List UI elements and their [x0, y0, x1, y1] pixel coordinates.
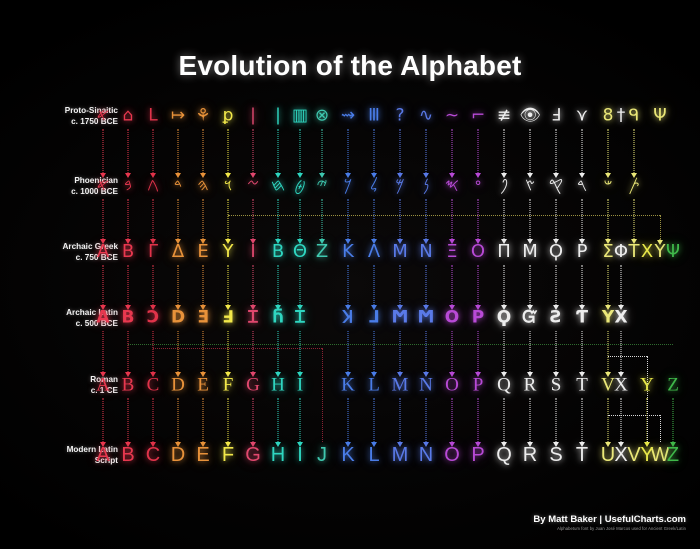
glyph-modern-latin-18: S: [549, 445, 562, 465]
glyph-phoenician-10: 𐤊: [344, 178, 353, 195]
glyph-modern-latin-4: E: [196, 445, 209, 465]
connector-line: [504, 265, 505, 305]
connector-line: [103, 331, 104, 372]
glyph-archaic-greek-17: Μ: [522, 243, 538, 261]
glyph-proto-sinaitic-12: ?: [395, 108, 404, 125]
connector-line: [348, 265, 349, 305]
connector-line: [178, 331, 179, 372]
connector-line: [374, 129, 375, 173]
glyph-phoenician-6: 𐤆: [247, 178, 259, 195]
glyph-archaic-latin-16: Ϙ: [497, 310, 511, 327]
glyph-roman-13: N: [419, 376, 433, 395]
connector-line: [203, 265, 204, 305]
connector-line: [608, 331, 609, 372]
connector-line: [103, 129, 104, 173]
connector-line: [348, 199, 349, 239]
glyph-roman-5: F: [223, 376, 234, 395]
connector-line: [278, 331, 279, 372]
connector-line: [178, 129, 179, 173]
glyph-phoenician-13: 𐤍: [423, 178, 430, 195]
connector-line: [278, 129, 279, 173]
glyph-archaic-greek-22: Υ: [655, 243, 666, 261]
glyph-archaic-greek-6: Ι: [250, 243, 255, 261]
glyph-phoenician-16: 𐤐: [500, 178, 508, 195]
connector-vertical: [322, 348, 323, 442]
connector-line: [582, 331, 583, 372]
connector-line: [556, 129, 557, 173]
glyph-archaic-greek-10: Κ: [342, 243, 354, 261]
glyph-phoenician-15: 𐤏: [475, 178, 481, 195]
glyph-archaic-latin-3: Ⅾ: [171, 310, 185, 327]
glyph-archaic-greek-12: Μ: [392, 243, 408, 261]
connector-line: [530, 129, 531, 173]
glyph-modern-latin-24: Y: [640, 445, 653, 465]
glyph-proto-sinaitic-3: ↦: [171, 108, 185, 125]
connector-line: [608, 265, 609, 305]
glyph-phoenician-19: 𐤓: [577, 178, 587, 195]
glyph-archaic-latin-13: Ϻ: [418, 310, 435, 327]
glyph-roman-23: X: [614, 376, 628, 395]
connector-line: [203, 129, 204, 173]
glyph-archaic-latin-18: Ƨ: [550, 310, 562, 327]
infographic-canvas: Evolution of the Alphabet Proto-Sinaitic…: [0, 0, 700, 549]
glyph-archaic-greek-1: Β: [122, 243, 134, 261]
glyph-archaic-latin-5: Ⅎ: [222, 310, 234, 327]
glyph-archaic-latin-14: Ο: [445, 310, 459, 327]
connector-line: [504, 129, 505, 173]
connector-line: [228, 265, 229, 305]
glyph-archaic-greek-15: Ο: [471, 243, 485, 261]
connector-line: [452, 265, 453, 305]
connector-line: [153, 129, 154, 173]
glyph-archaic-greek-21: Τ: [629, 243, 640, 261]
connector-line: [504, 398, 505, 442]
glyph-proto-sinaitic-17: 👁: [519, 108, 541, 125]
connector-vertical: [647, 356, 648, 442]
connector-line: [300, 129, 301, 173]
connector-line: [300, 398, 301, 442]
connector-line: [278, 265, 279, 305]
glyph-modern-latin-8: I: [297, 445, 303, 465]
glyph-roman-19: T: [576, 376, 588, 395]
glyph-phoenician-11: 𐤋: [370, 178, 378, 195]
connector-line: [400, 199, 401, 239]
connector-line: [153, 398, 154, 442]
connector-line: [322, 199, 323, 239]
glyph-proto-sinaitic-6: |: [250, 108, 256, 125]
glyph-proto-sinaitic-1: ⌂: [123, 108, 134, 125]
glyph-proto-sinaitic-8: ▥: [292, 108, 308, 125]
glyph-modern-latin-0: A: [96, 445, 109, 465]
glyph-proto-sinaitic-15: ⌐: [471, 108, 485, 125]
glyph-archaic-latin-10: Ʞ: [343, 310, 354, 327]
glyph-archaic-greek-23: Φ: [614, 243, 628, 261]
glyph-phoenician-12: 𐤌: [395, 178, 404, 195]
connector-line: [103, 199, 104, 239]
glyph-phoenician-21: 𐤕: [628, 178, 639, 195]
connector-line: [556, 331, 557, 372]
glyph-modern-latin-2: C: [146, 445, 160, 465]
glyph-archaic-latin-15: Ρ: [472, 310, 484, 327]
connector-line: [400, 129, 401, 173]
glyph-modern-latin-6: G: [245, 445, 261, 465]
glyph-roman-8: I: [297, 376, 303, 395]
glyph-roman-18: S: [551, 376, 562, 395]
glyph-proto-sinaitic-13: ∿: [419, 108, 433, 125]
glyph-modern-latin-7: H: [271, 445, 285, 465]
connector-line: [228, 331, 229, 372]
connector-line: [374, 265, 375, 305]
connector-line: [634, 129, 635, 173]
glyph-proto-sinaitic-11: Ⅲ: [368, 108, 380, 125]
connector-line: [374, 199, 375, 239]
connector-line: [608, 129, 609, 173]
glyph-archaic-greek-4: Ε: [197, 243, 208, 261]
connector-horizontal: [128, 344, 673, 345]
credit-font-note: Alphabetum font by Juan José Marcos used…: [533, 526, 686, 531]
connector-line: [608, 199, 609, 239]
connector-horizontal: [608, 356, 647, 357]
glyph-proto-sinaitic-4: ⚘: [195, 108, 210, 125]
glyph-proto-sinaitic-14: ∼: [445, 108, 459, 125]
glyph-proto-sinaitic-19: ⋎: [576, 108, 588, 125]
connector-line: [278, 199, 279, 239]
connector-line: [203, 398, 204, 442]
glyph-archaic-latin-12: Ϻ: [392, 310, 409, 327]
connector-line: [426, 199, 427, 239]
glyph-proto-sinaitic-5: ꝑ: [223, 108, 234, 125]
connector-horizontal: [228, 215, 660, 216]
connector-line: [178, 199, 179, 239]
connector-line: [608, 398, 609, 442]
connector-line: [153, 331, 154, 372]
glyph-archaic-latin-1: Β: [122, 310, 135, 327]
glyph-modern-latin-13: N: [419, 445, 433, 465]
glyph-modern-latin-21: V: [627, 445, 640, 465]
glyph-archaic-greek-19: Ρ: [577, 243, 588, 261]
glyph-phoenician-9: 𐤉: [317, 178, 328, 195]
glyph-archaic-greek-8: Θ: [293, 243, 307, 261]
page-title: Evolution of the Alphabet: [0, 50, 700, 82]
connector-line: [300, 199, 301, 239]
glyph-proto-sinaitic-21: ᑫ: [629, 108, 640, 125]
connector-line: [452, 199, 453, 239]
connector-line: [478, 265, 479, 305]
connector-line: [504, 331, 505, 372]
connector-line: [426, 129, 427, 173]
glyph-roman-14: O: [445, 376, 459, 395]
credit-block: By Matt Baker | UsefulCharts.com Alphabe…: [533, 514, 686, 532]
credit-author[interactable]: By Matt Baker | UsefulCharts.com: [533, 514, 686, 525]
connector-line: [400, 265, 401, 305]
connector-line: [621, 398, 622, 442]
glyph-archaic-greek-14: Ξ: [446, 243, 457, 261]
glyph-phoenician-20: 𐤔: [604, 178, 613, 195]
glyph-modern-latin-11: L: [368, 445, 379, 465]
connector-line: [530, 265, 531, 305]
connector-line: [128, 398, 129, 442]
glyph-proto-sinaitic-18: Ⅎ: [551, 108, 561, 125]
connector-line: [348, 129, 349, 173]
connector-line: [452, 398, 453, 442]
connector-vertical: [660, 215, 661, 239]
connector-line: [556, 265, 557, 305]
glyph-roman-2: C: [147, 376, 160, 395]
connector-line: [228, 199, 229, 239]
connector-line: [452, 129, 453, 173]
connector-line: [504, 199, 505, 239]
glyph-archaic-greek-7: Β: [272, 243, 284, 261]
connector-line: [621, 265, 622, 305]
connector-line: [348, 331, 349, 372]
glyph-modern-latin-12: M: [392, 445, 409, 465]
connector-line: [582, 265, 583, 305]
connector-horizontal: [153, 348, 322, 349]
glyph-modern-latin-9: J: [317, 445, 327, 465]
glyph-archaic-greek-24: Χ: [641, 243, 653, 261]
glyph-modern-latin-16: Q: [496, 445, 512, 465]
glyph-proto-sinaitic-7: |: [275, 108, 281, 125]
glyph-modern-latin-5: F: [222, 445, 234, 465]
glyph-archaic-latin-23: Χ: [614, 310, 627, 327]
glyph-roman-4: E: [197, 376, 209, 395]
glyph-archaic-latin-19: Ƭ: [576, 310, 588, 327]
connector-line: [426, 265, 427, 305]
connector-line: [582, 129, 583, 173]
glyph-phoenician-4: 𐤄: [197, 178, 208, 195]
glyph-archaic-latin-7: Ⴌ: [273, 310, 284, 327]
glyph-archaic-latin-6: Ɪ: [248, 310, 257, 327]
connector-line: [556, 199, 557, 239]
glyph-phoenician-1: 𐤁: [124, 178, 132, 195]
glyph-phoenician-0: 𐤀: [97, 178, 110, 195]
glyph-archaic-greek-18: Ϙ: [549, 243, 563, 261]
glyph-modern-latin-3: D: [171, 445, 185, 465]
connector-line: [128, 129, 129, 173]
connector-line: [530, 199, 531, 239]
glyph-proto-sinaitic-10: ⇝: [341, 108, 355, 125]
glyph-modern-latin-19: T: [576, 445, 588, 465]
glyph-roman-1: B: [122, 376, 135, 395]
connector-line: [128, 265, 129, 305]
connector-line: [582, 398, 583, 442]
glyph-archaic-latin-0: Α: [96, 310, 109, 327]
glyph-roman-11: L: [368, 376, 380, 395]
glyph-archaic-greek-5: Υ: [223, 243, 234, 261]
glyph-modern-latin-20: U: [601, 445, 615, 465]
connector-line: [253, 265, 254, 305]
connector-line: [153, 265, 154, 305]
glyph-modern-latin-10: K: [341, 445, 354, 465]
glyph-phoenician-7: 𐤇: [271, 178, 285, 195]
glyph-proto-sinaitic-22: Ψ: [653, 108, 666, 125]
glyph-phoenician-2: 𐤂: [147, 178, 159, 195]
glyph-archaic-greek-3: Δ: [172, 243, 184, 261]
glyph-proto-sinaitic-16: ≢: [497, 108, 511, 125]
glyph-roman-6: G: [246, 376, 260, 395]
glyph-archaic-greek-11: Λ: [368, 243, 380, 261]
connector-line: [203, 199, 204, 239]
glyph-phoenician-5: 𐤅: [224, 178, 232, 195]
connector-line: [103, 265, 104, 305]
connector-line: [253, 129, 254, 173]
glyph-archaic-greek-0: Α: [97, 243, 109, 261]
connector-line: [400, 398, 401, 442]
glyph-archaic-greek-2: Γ: [148, 243, 158, 261]
connector-line: [348, 398, 349, 442]
glyph-archaic-latin-20: Y: [602, 310, 614, 327]
connector-vertical: [660, 415, 661, 442]
glyph-modern-latin-1: B: [121, 445, 134, 465]
connector-line: [153, 199, 154, 239]
connector-line: [530, 331, 531, 372]
glyph-archaic-latin-8: Ɪ: [295, 310, 304, 327]
glyph-proto-sinaitic-9: ⊗: [315, 108, 329, 125]
connector-line: [530, 398, 531, 442]
glyph-proto-sinaitic-2: L: [148, 108, 157, 125]
connector-line: [478, 398, 479, 442]
connector-line: [400, 331, 401, 372]
glyph-roman-15: P: [473, 376, 484, 395]
glyph-roman-16: Q: [497, 376, 511, 395]
connector-line: [621, 331, 622, 372]
glyph-archaic-greek-20: Σ: [602, 243, 613, 261]
connector-line: [452, 331, 453, 372]
connector-line: [426, 331, 427, 372]
connector-line: [178, 398, 179, 442]
glyph-phoenician-8: 𐤈: [294, 178, 305, 195]
glyph-archaic-greek-13: Ν: [419, 243, 432, 261]
connector-line: [673, 398, 674, 442]
connector-line: [300, 265, 301, 305]
glyph-archaic-greek-9: Ζ: [316, 243, 328, 261]
glyph-modern-latin-14: O: [444, 445, 460, 465]
connector-line: [582, 199, 583, 239]
connector-line: [478, 331, 479, 372]
glyph-roman-3: D: [171, 376, 185, 395]
connector-line: [278, 398, 279, 442]
glyph-roman-0: A: [96, 376, 110, 395]
glyph-archaic-greek-25: Ψ: [666, 243, 680, 261]
connector-line: [478, 129, 479, 173]
glyph-modern-latin-23: X: [614, 445, 627, 465]
glyph-roman-17: R: [524, 376, 537, 395]
glyph-roman-12: M: [392, 376, 409, 395]
glyph-archaic-latin-2: Ɔ: [147, 310, 159, 327]
connector-line: [178, 265, 179, 305]
glyph-roman-20: V: [601, 376, 615, 395]
connector-line: [253, 398, 254, 442]
connector-line: [228, 398, 229, 442]
connector-line: [556, 398, 557, 442]
glyph-proto-sinaitic-23: †: [617, 108, 626, 125]
glyph-archaic-greek-16: Π: [497, 243, 511, 261]
connector-line: [426, 398, 427, 442]
connector-line: [128, 199, 129, 239]
glyph-archaic-latin-4: Ǝ: [197, 310, 209, 327]
connector-line: [253, 199, 254, 239]
glyph-phoenician-18: 𐤒: [549, 178, 563, 195]
connector-line: [374, 331, 375, 372]
glyph-modern-latin-17: R: [523, 445, 537, 465]
glyph-modern-latin-15: P: [471, 445, 484, 465]
connector-line: [634, 199, 635, 239]
glyph-roman-24: Y: [640, 376, 654, 395]
connector-line: [253, 331, 254, 372]
connector-line: [300, 331, 301, 372]
glyph-phoenician-17: 𐤑: [525, 178, 535, 195]
connector-line: [103, 398, 104, 442]
glyph-proto-sinaitic-20: 8: [603, 108, 614, 125]
connector-line: [203, 331, 204, 372]
glyph-modern-latin-25: Z: [667, 445, 679, 465]
connector-line: [228, 129, 229, 173]
glyph-phoenician-3: 𐤃: [174, 178, 182, 195]
glyph-proto-sinaitic-0: 𐤀: [97, 108, 110, 125]
glyph-phoenician-14: 𐤎: [445, 178, 459, 195]
glyph-archaic-latin-17: Ᏻ: [522, 310, 537, 327]
connector-line: [322, 129, 323, 173]
glyph-roman-25: Z: [667, 376, 679, 395]
connector-line: [128, 331, 129, 372]
connector-line: [374, 398, 375, 442]
glyph-archaic-latin-11: ⅃: [369, 310, 380, 327]
connector-horizontal: [608, 415, 660, 416]
glyph-roman-7: H: [271, 376, 285, 395]
glyph-roman-10: K: [341, 376, 355, 395]
connector-line: [478, 199, 479, 239]
